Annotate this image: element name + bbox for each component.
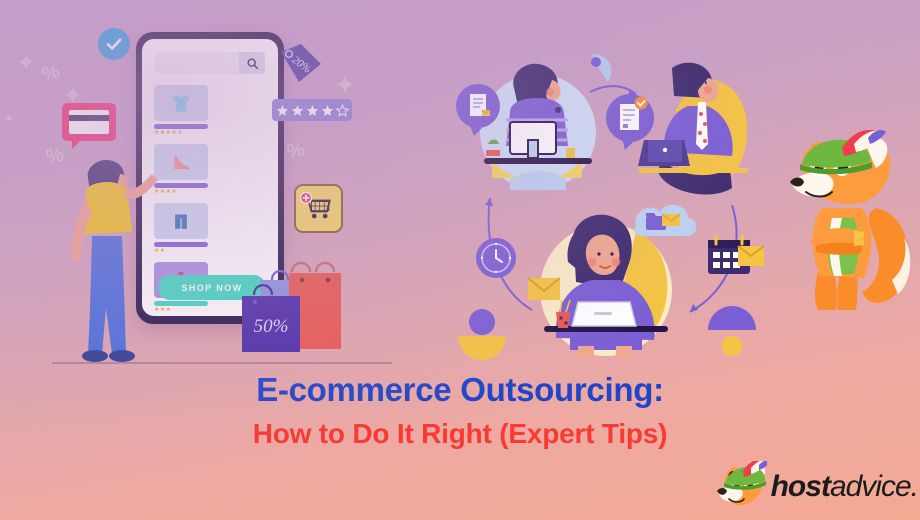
shopping-bags: 50% [232, 258, 358, 364]
blue-jeans-icon [154, 203, 208, 239]
tile-rating: ★★★ [154, 307, 208, 314]
tile-rating: ★★★★★ [154, 130, 208, 137]
sale-bag-label: 50% [254, 316, 289, 337]
check-circle-icon [98, 28, 130, 60]
credit-card-bubble-icon [62, 103, 116, 141]
star-filled-icon [276, 104, 289, 117]
shopper-person [62, 140, 158, 368]
pink-heel-icon [154, 144, 208, 180]
tile-rating: ★★★★ [154, 189, 208, 196]
star-filled-icon [321, 104, 334, 117]
logo-wordmark: hostadvice. [771, 472, 918, 502]
logo-host: host [771, 470, 830, 503]
product-tile[interactable]: ★★★★ [154, 144, 208, 196]
sparkle-glyph-3: ✦ [17, 50, 35, 76]
fox-logo-icon [713, 461, 767, 513]
banner: % % % ✦ ✦ ✦ ✦ [0, 0, 920, 520]
outsourcing-workflow-illustration [440, 40, 770, 370]
page-subtitle: How to Do It Right (Expert Tips) [0, 419, 920, 450]
percent-glyph-1: % [40, 60, 62, 86]
product-tile[interactable]: ★★★★★ [154, 85, 208, 137]
tile-rating: ★★ [154, 248, 208, 255]
title-block: E-commerce Outsourcing: How to Do It Rig… [0, 372, 920, 450]
percent-glyph-3: % [285, 139, 307, 165]
logo-advice: advice [830, 470, 911, 503]
sparkle-glyph-2: ✦ [334, 70, 356, 101]
logo-dot: . [911, 470, 918, 503]
ground-line [52, 362, 392, 364]
sparkle-glyph-4: ✦ [3, 110, 15, 127]
star-filled-icon [291, 104, 304, 117]
page-title: E-commerce Outsourcing: [0, 372, 920, 408]
discount-tag-20: 20% [277, 42, 323, 84]
fox-mascot [780, 130, 920, 315]
ecommerce-illustration: % % % ✦ ✦ ✦ ✦ [0, 0, 420, 380]
star-outline-icon [336, 104, 349, 117]
search-icon[interactable] [239, 52, 265, 74]
search-input[interactable] [155, 52, 265, 74]
blue-shirt-icon [154, 85, 208, 121]
hostadvice-logo[interactable]: hostadvice. [713, 458, 918, 516]
rating-badge [272, 99, 352, 121]
shopping-cart-add-icon[interactable] [294, 184, 343, 233]
product-tile[interactable]: ★★ [154, 203, 208, 255]
star-filled-icon [306, 104, 319, 117]
